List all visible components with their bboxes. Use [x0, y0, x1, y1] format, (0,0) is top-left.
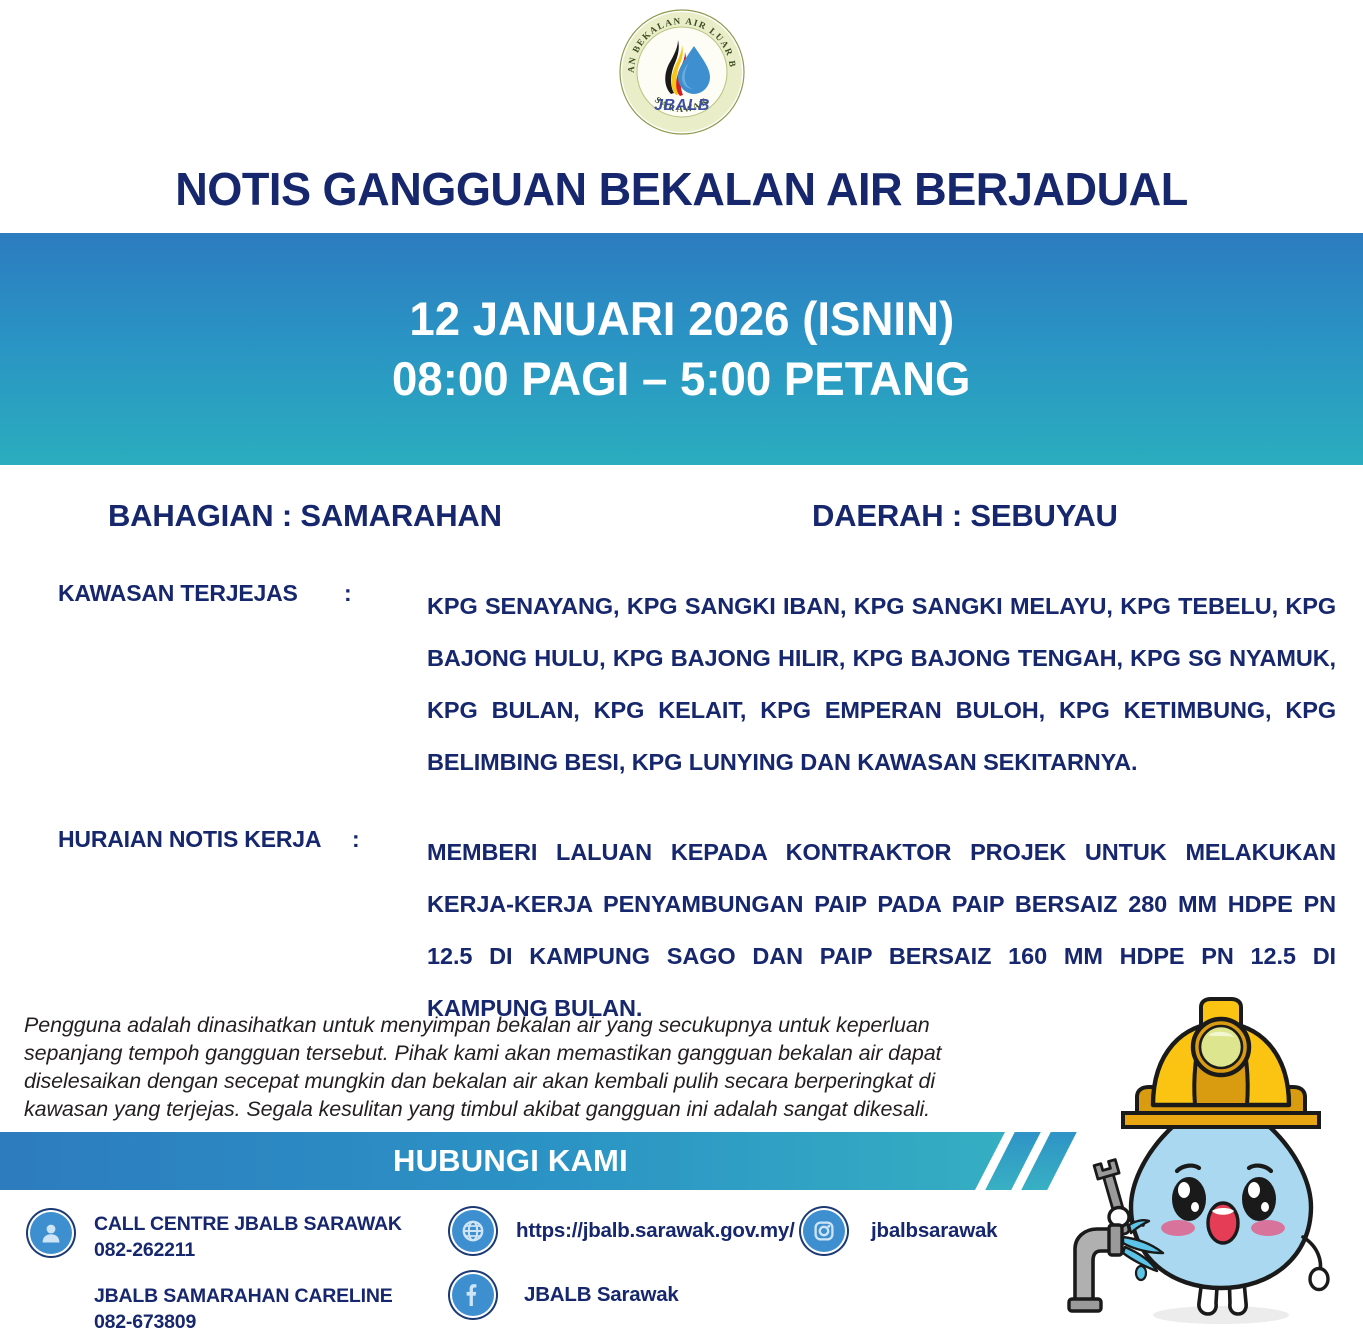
careline-name: JBALB SAMARAHAN CARELINE	[94, 1284, 402, 1310]
phone-contacts: CALL CENTRE JBALB SARAWAK 082-262211 JBA…	[30, 1212, 402, 1336]
instagram-contact[interactable]: jbalbsarawak	[803, 1210, 997, 1252]
water-droplet-mascot-icon	[1053, 985, 1363, 1340]
page-title: NOTIS GANGGUAN BEKALAN AIR BERJADUAL	[14, 162, 1350, 216]
call-centre-number[interactable]: 082-262211	[94, 1238, 402, 1264]
division-label: BAHAGIAN : SAMARAHAN	[108, 498, 502, 534]
phone-lines: CALL CENTRE JBALB SARAWAK 082-262211 JBA…	[94, 1212, 402, 1336]
facebook-icon	[452, 1274, 494, 1316]
call-centre-name: CALL CENTRE JBALB SARAWAK	[94, 1212, 402, 1238]
affected-areas-label: KAWASAN TERJEJAS	[58, 580, 298, 607]
contact-banner-title: HUBUNGI KAMI	[393, 1132, 628, 1190]
globe-icon	[452, 1210, 494, 1252]
facebook-contact[interactable]: JBALB Sarawak	[452, 1274, 679, 1316]
website-url[interactable]: https://jbalb.sarawak.gov.my/	[516, 1219, 795, 1243]
jbalb-logo-icon: JABATAN BEKALAN AIR LUAR BANDAR SARAWAK …	[616, 6, 748, 138]
affected-areas-text: KPG SENAYANG, KPG SANGKI IBAN, KPG SANGK…	[427, 580, 1336, 789]
instagram-icon	[803, 1210, 845, 1252]
website-contact[interactable]: https://jbalb.sarawak.gov.my/	[452, 1210, 795, 1252]
work-description-label: HURAIAN NOTIS KERJA	[58, 826, 321, 853]
careline-number[interactable]: 082-673809	[94, 1310, 402, 1336]
person-icon	[30, 1212, 72, 1254]
work-description-colon: :	[352, 826, 360, 853]
svg-text:JBALB: JBALB	[654, 97, 710, 114]
location-row: BAHAGIAN : SAMARAHAN DAERAH : SEBUYAU	[0, 498, 1363, 538]
notice-poster: JABATAN BEKALAN AIR LUAR BANDAR SARAWAK …	[0, 0, 1363, 1340]
facebook-handle[interactable]: JBALB Sarawak	[524, 1283, 679, 1307]
district-label: DAERAH : SEBUYAU	[812, 498, 1118, 534]
advisory-text: Pengguna adalah dinasihatkan untuk menyi…	[24, 1012, 974, 1124]
logo-container: JABATAN BEKALAN AIR LUAR BANDAR SARAWAK …	[0, 6, 1363, 138]
date-banner: 12 JANUARI 2026 (ISNIN) 08:00 PAGI – 5:0…	[0, 233, 1363, 465]
affected-areas-colon: :	[344, 580, 352, 607]
instagram-handle[interactable]: jbalbsarawak	[871, 1219, 997, 1243]
notice-date: 12 JANUARI 2026 (ISNIN)	[409, 289, 954, 349]
notice-time: 08:00 PAGI – 5:00 PETANG	[392, 349, 971, 409]
